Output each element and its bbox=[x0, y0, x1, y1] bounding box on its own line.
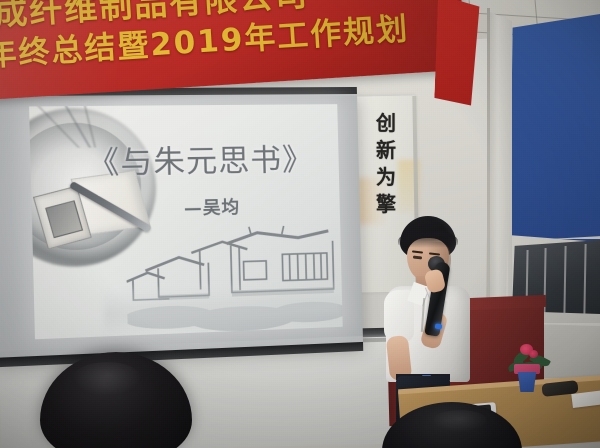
screen-surface: 《与朱元思书》 —吴均 bbox=[0, 96, 363, 352]
slide-title: 《与朱元思书》 bbox=[86, 134, 337, 183]
projection-screen: 《与朱元思书》 —吴均 bbox=[0, 92, 363, 360]
ink-mist bbox=[103, 281, 343, 337]
photo-scene: 创 新 为 擎 bbox=[0, 0, 600, 448]
speaker-hair-fringe bbox=[398, 232, 458, 248]
foreground-head-left-sheen bbox=[72, 362, 142, 396]
scroll-char-3: 为 bbox=[366, 164, 406, 191]
slide-author: —吴均 bbox=[184, 192, 241, 219]
plant-flower bbox=[529, 350, 538, 358]
scroll-char-4: 擎 bbox=[366, 191, 406, 218]
scroll-char-1: 创 bbox=[366, 110, 406, 137]
foreground-head-right-sheen bbox=[432, 410, 488, 432]
microphone-led-indicator bbox=[435, 323, 443, 329]
scroll-characters: 创 新 为 擎 bbox=[366, 110, 406, 218]
projected-slide: 《与朱元思书》 —吴均 bbox=[29, 104, 343, 339]
book-cover-seal bbox=[45, 200, 83, 238]
blue-wall-panel bbox=[508, 14, 600, 242]
scroll-char-2: 新 bbox=[366, 137, 406, 164]
